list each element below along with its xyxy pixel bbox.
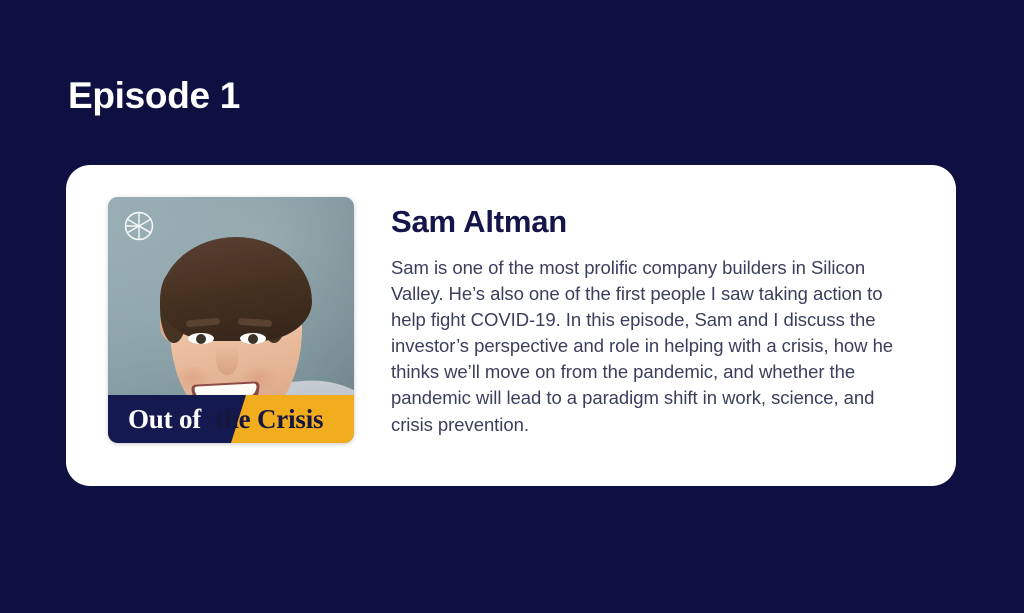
artwork-title-banner: Out of the Crisis [108, 395, 354, 443]
portrait-eye-right [240, 333, 266, 344]
episode-card-inner: Out of the Crisis Sam Altman Sam is one … [66, 165, 956, 486]
page-title: Episode 1 [68, 76, 240, 117]
portrait-nose [216, 345, 238, 375]
guest-bio: Sam is one of the most prolific company … [391, 255, 916, 438]
episode-text-content: Sam Altman Sam is one of the most prolif… [354, 197, 916, 454]
portrait-pupil-right [248, 334, 258, 344]
guest-name: Sam Altman [391, 205, 916, 239]
portrait-pupil-left [196, 334, 206, 344]
portrait-eye-left [188, 333, 214, 344]
episode-card: Out of the Crisis Sam Altman Sam is one … [66, 165, 956, 486]
portrait-hair [160, 237, 312, 341]
page-background: Episode 1 [0, 0, 1024, 613]
podcast-artwork[interactable]: Out of the Crisis [108, 197, 354, 443]
banner-text-part-2: the Crisis [215, 404, 323, 435]
banner-text-group: Out of the Crisis [108, 395, 354, 443]
banner-text-part-1: Out of [128, 404, 201, 435]
aperture-icon [122, 209, 156, 243]
